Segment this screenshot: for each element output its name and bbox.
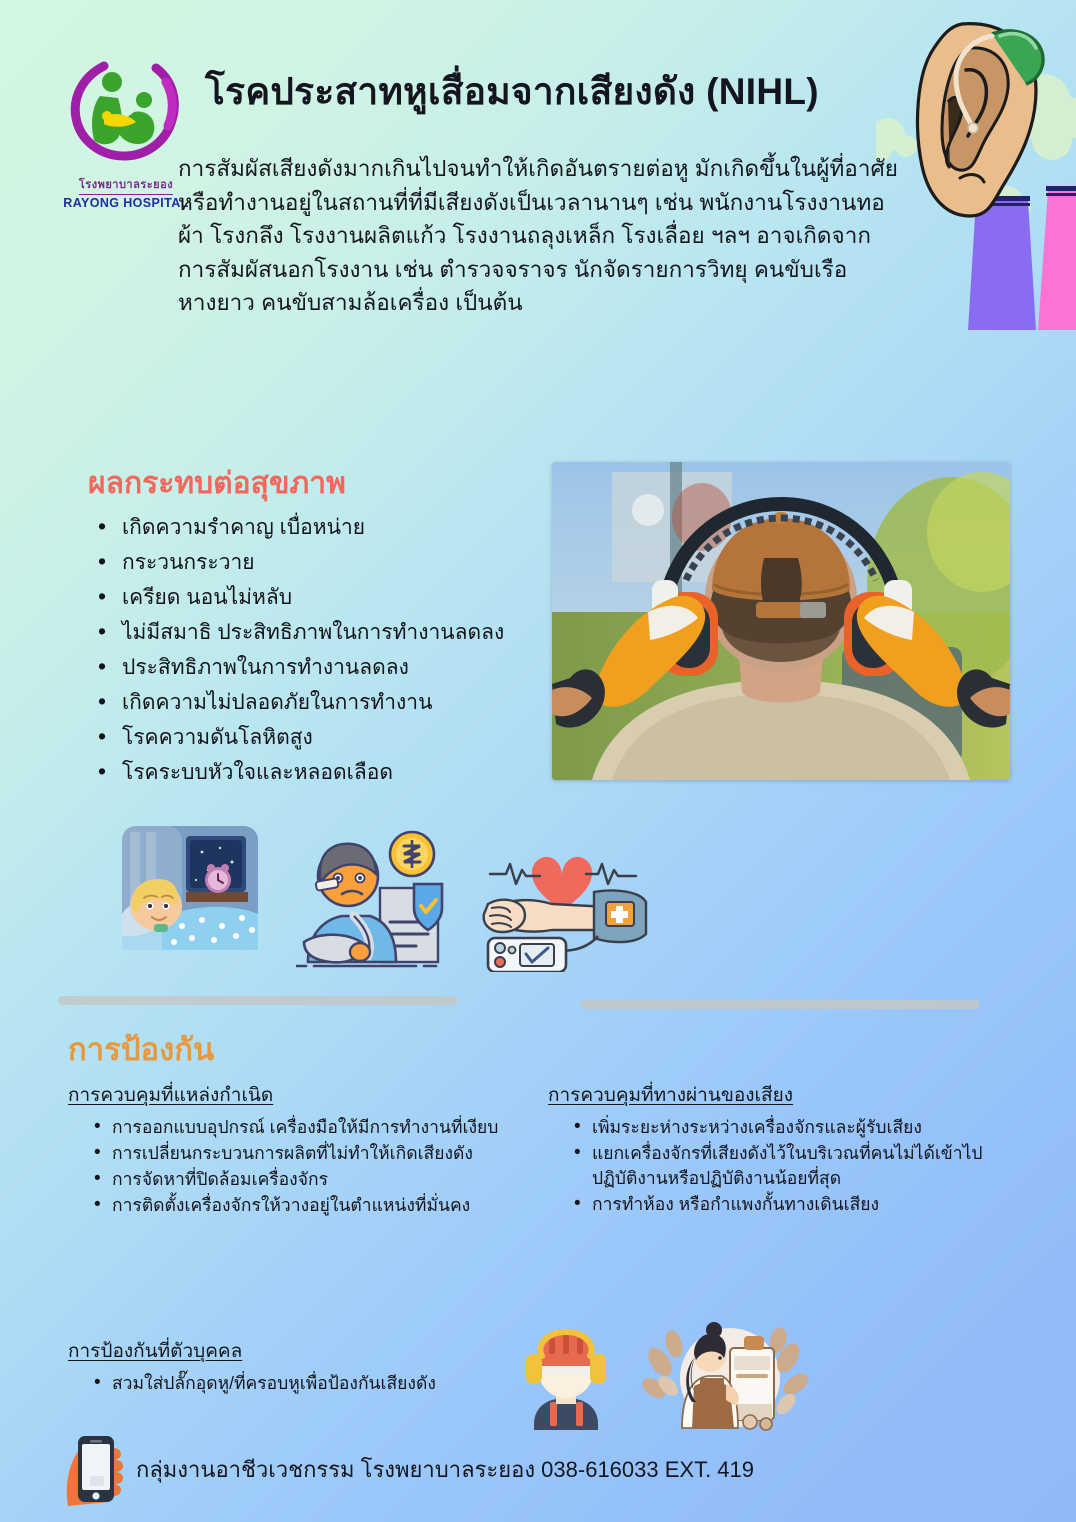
path-control-heading: การควบคุมที่ทางผ่านของเสียง xyxy=(548,1080,1018,1110)
worker-hearing-protection-photo xyxy=(552,462,1010,780)
logo-name-en: RAYONG HOSPITAL xyxy=(60,196,192,210)
insomnia-illustration xyxy=(110,818,270,973)
list-item: สวมใส่ปลั๊กอุดหู/ที่ครอบหูเพื่อป้องกันเส… xyxy=(94,1371,538,1396)
worker-earmuff-icon xyxy=(526,1332,606,1430)
health-effects-heading: ผลกระทบต่อสุขภาพ xyxy=(88,460,346,507)
list-item: กระวนกระวาย xyxy=(92,545,542,580)
personal-control-list: สวมใส่ปลั๊กอุดหู/ที่ครอบหูเพื่อป้องกันเส… xyxy=(68,1371,538,1396)
list-item: โรคระบบหัวใจและหลอดเลือด xyxy=(92,755,542,790)
personal-control-heading: การป้องกันที่ตัวบุคคล xyxy=(68,1336,538,1366)
list-item: เกิดความไม่ปลอดภัยในการทำงาน xyxy=(92,685,542,720)
list-item: ไม่มีสมาธิ ประสิทธิภาพในการทำงานลดลง xyxy=(92,615,542,650)
phone-contact-icon xyxy=(62,1432,132,1512)
intro-paragraph: การสัมผัสเสียงดังมากเกินไปจนทำให้เกิดอัน… xyxy=(178,152,908,320)
workplace-injury-illustration xyxy=(296,826,456,976)
list-item: การเปลี่ยนกระบวนการผลิตที่ไม่ทำให้เกิดเส… xyxy=(94,1141,538,1166)
list-item: โรคความดันโลหิตสูง xyxy=(92,720,542,755)
list-item: การติดตั้งเครื่องจักรให้วางอยู่ในตำแหน่ง… xyxy=(94,1193,538,1218)
divider-right xyxy=(580,1000,980,1009)
page-title: โรคประสาทหูเสื่อมจากเสียงดัง (NIHL) xyxy=(205,62,905,121)
barista-illustration xyxy=(639,1322,812,1430)
prevention-path-control: การควบคุมที่ทางผ่านของเสียง เพิ่มระยะห่า… xyxy=(548,1080,1018,1218)
source-control-heading: การควบคุมที่แหล่งกำเนิด xyxy=(68,1080,538,1110)
list-item: เครียด นอนไม่หลับ xyxy=(92,580,542,615)
list-item: เกิดความรำคาญ เบื่อหน่าย xyxy=(92,510,542,545)
blood-pressure-illustration xyxy=(478,830,648,977)
footer-contact-text: กลุ่มงานอาชีวเวชกรรม โรงพยาบาลระยอง 038-… xyxy=(136,1452,754,1487)
path-control-list: เพิ่มระยะห่างระหว่างเครื่องจักรและผู้รับ… xyxy=(548,1115,1018,1217)
prevention-heading: การป้องกัน xyxy=(68,1024,214,1074)
hospital-logo: โรงพยาบาลระยอง RAYONG HOSPITAL xyxy=(60,52,192,210)
list-item: แยกเครื่องจักรที่เสียงดังไว้ในบริเวณที่ค… xyxy=(574,1141,1018,1191)
health-effects-list: เกิดความรำคาญ เบื่อหน่าย กระวนกระวาย เคร… xyxy=(92,510,542,790)
list-item: เพิ่มระยะห่างระหว่างเครื่องจักรและผู้รับ… xyxy=(574,1115,1018,1140)
list-item: การทำห้อง หรือกำแพงกั้นทางเดินเสียง xyxy=(574,1192,1018,1217)
list-item: การจัดหาที่ปิดล้อมเครื่องจักร xyxy=(94,1167,538,1192)
factory-tower-pink-icon xyxy=(1038,186,1076,330)
list-item: การออกแบบอุปกรณ์ เครื่องมือให้มีการทำงาน… xyxy=(94,1115,538,1140)
ear-icon xyxy=(918,24,1044,216)
divider-left xyxy=(58,996,458,1005)
logo-name-th: โรงพยาบาลระยอง xyxy=(79,175,173,195)
logo-mark-icon xyxy=(60,52,192,170)
prevention-source-control: การควบคุมที่แหล่งกำเนิด การออกแบบอุปกรณ์… xyxy=(68,1080,538,1219)
health-effect-illustrations xyxy=(100,812,670,982)
prevention-personal-control: การป้องกันที่ตัวบุคคล สวมใส่ปลั๊กอุดหู/ท… xyxy=(68,1336,538,1397)
bottom-illustrations xyxy=(520,1318,820,1438)
list-item: ประสิทธิภาพในการทำงานลดลง xyxy=(92,650,542,685)
source-control-list: การออกแบบอุปกรณ์ เครื่องมือให้มีการทำงาน… xyxy=(68,1115,538,1218)
